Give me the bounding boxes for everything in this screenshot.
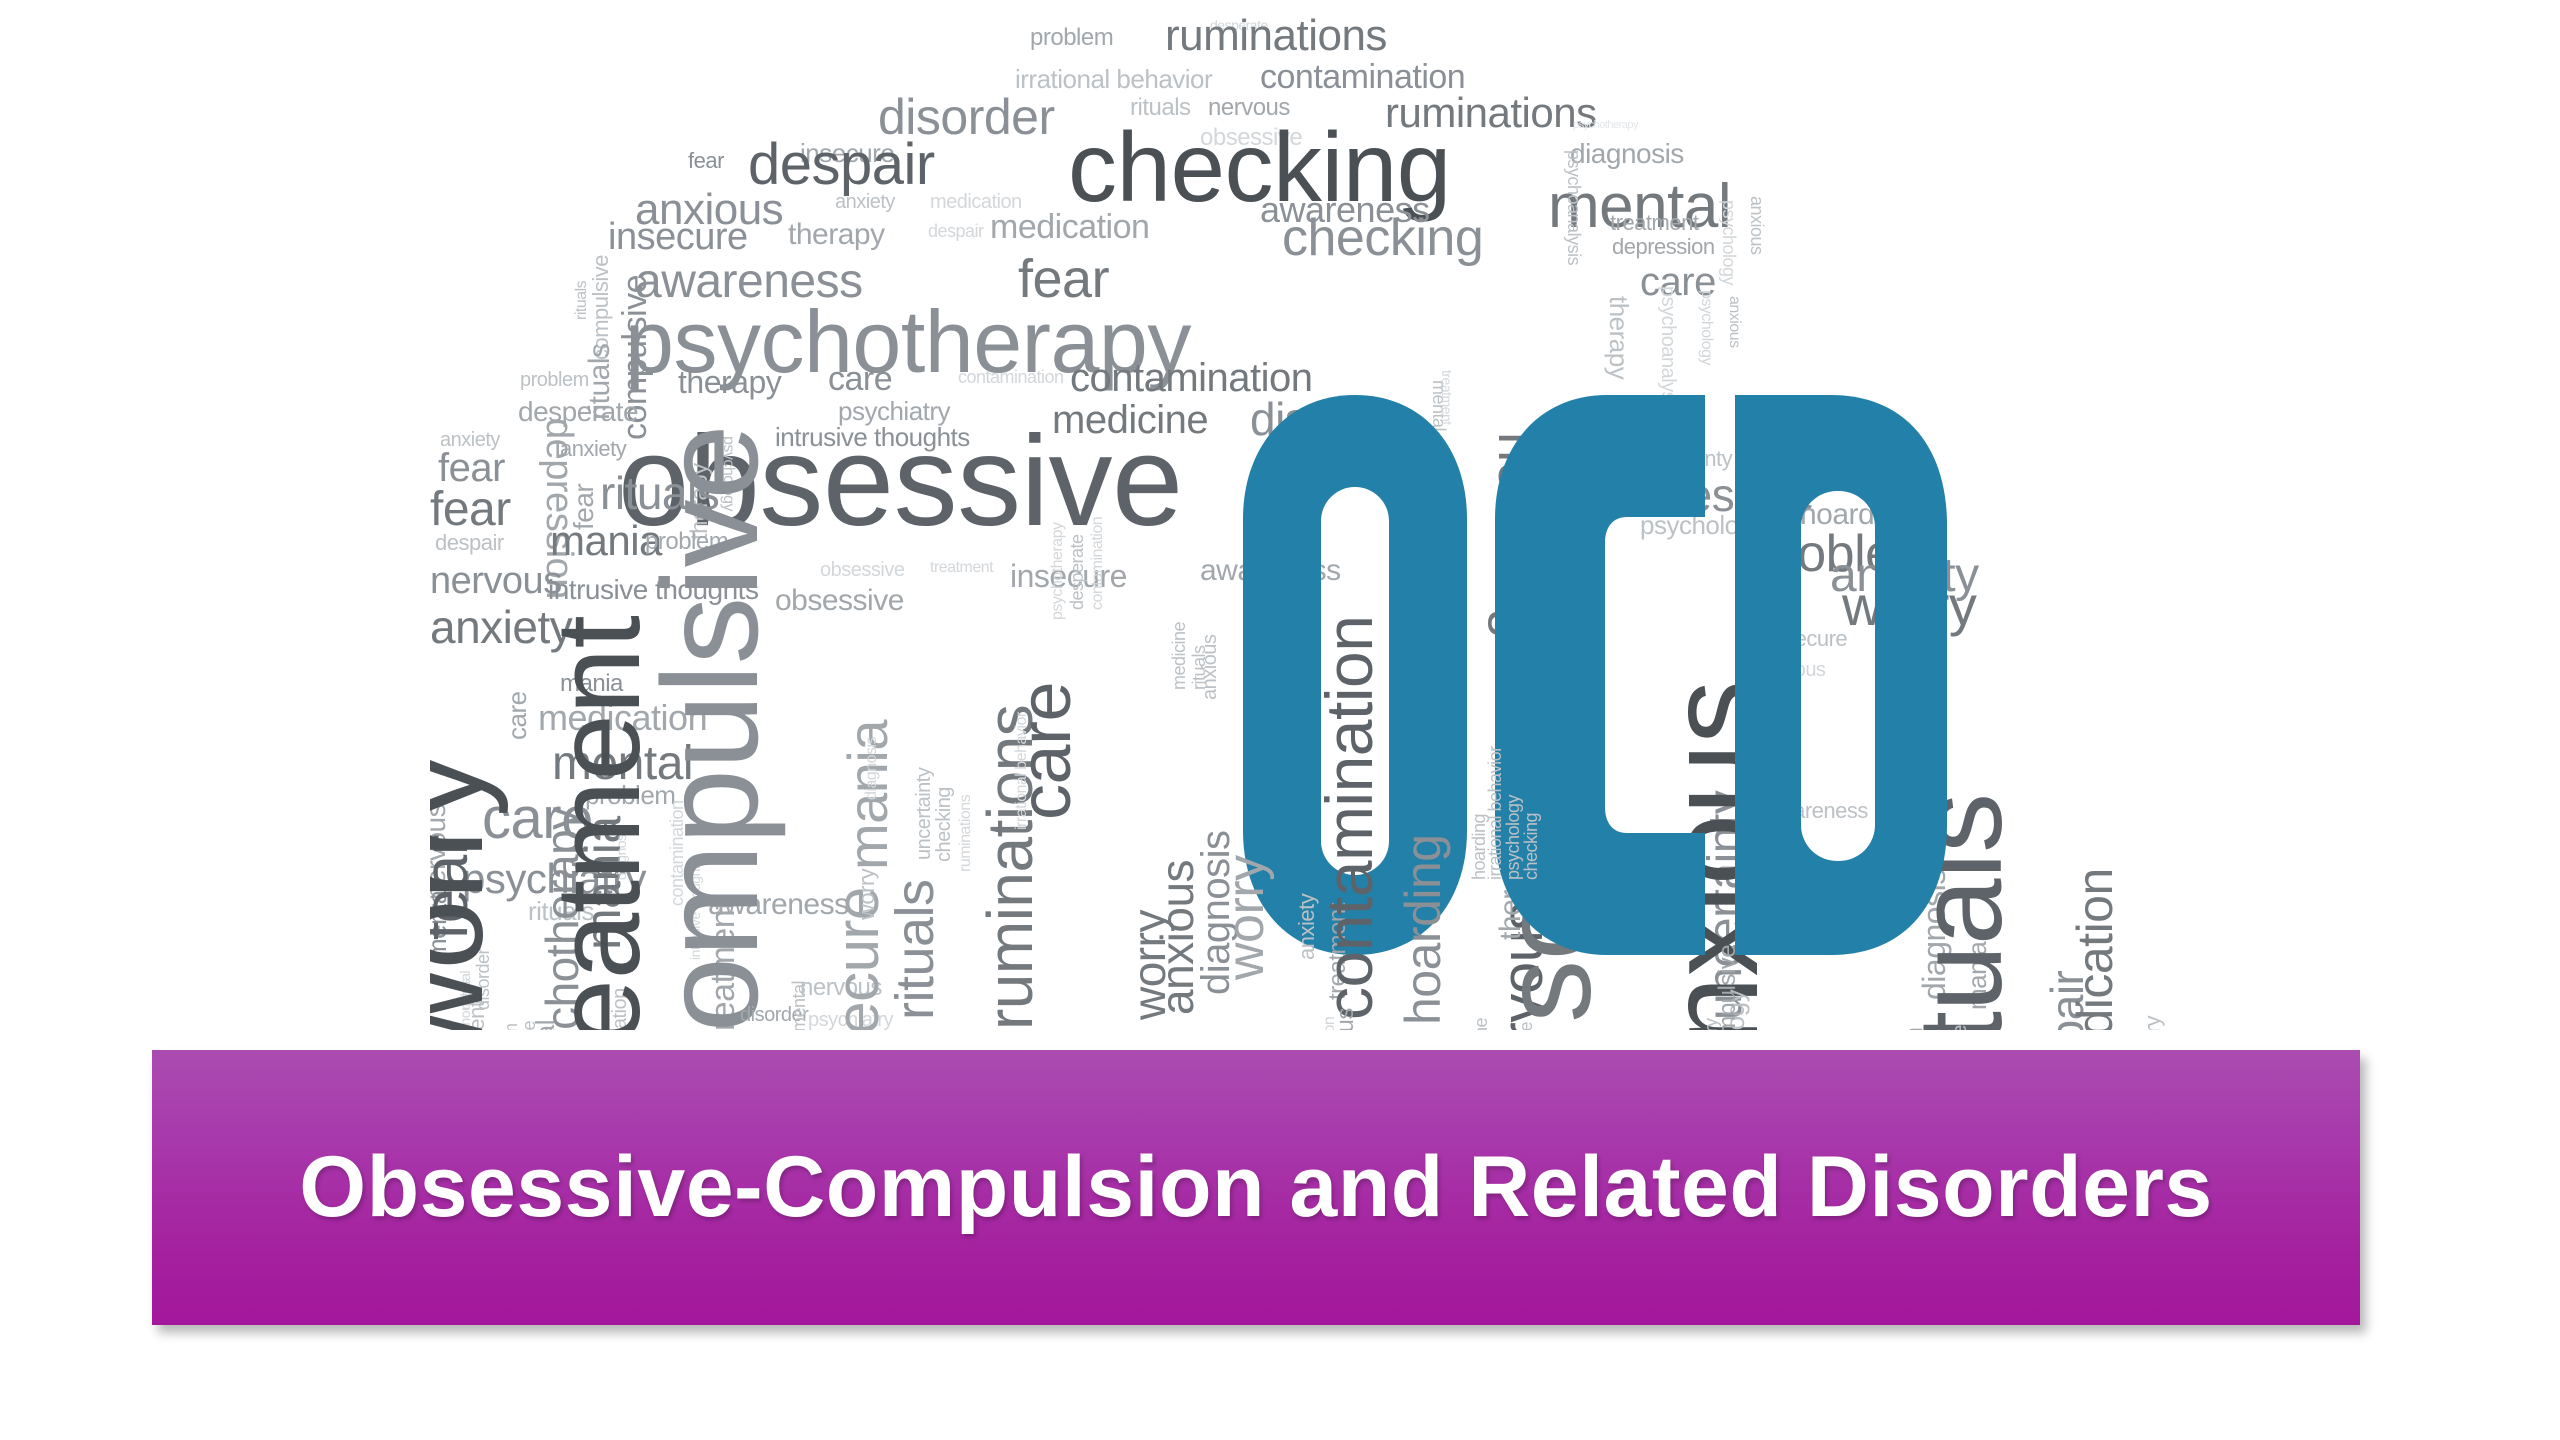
cloud-word: awareness bbox=[1766, 800, 1868, 822]
cloud-word: checking bbox=[1522, 813, 1540, 880]
cloud-word: fear bbox=[438, 448, 505, 488]
cloud-word: insecure bbox=[2164, 1011, 2170, 1030]
cloud-word: worry bbox=[1702, 1019, 1720, 1031]
cloud-word: depression bbox=[1612, 236, 1715, 258]
word-cloud-image: desperate problem ruminations irrational… bbox=[430, 0, 2170, 1030]
title-banner: Obsessive-Compulsion and Related Disorde… bbox=[152, 1050, 2360, 1325]
cloud-word: anxious bbox=[1770, 910, 1829, 928]
cloud-word: hoarding bbox=[1398, 834, 1448, 1025]
cloud-word: ruminations bbox=[958, 795, 974, 872]
cloud-word: desperate bbox=[1068, 534, 1086, 610]
cloud-word: problem bbox=[1030, 26, 1113, 50]
cloud-word: medicine bbox=[1170, 622, 1188, 690]
cloud-word: care bbox=[828, 362, 892, 396]
cloud-word: problem bbox=[502, 1023, 520, 1030]
cloud-word: irrational behavior bbox=[1486, 746, 1504, 880]
cloud-word: care bbox=[504, 691, 530, 740]
cloud-word: uncertainty bbox=[914, 768, 934, 860]
cloud-word: therapy bbox=[788, 220, 885, 250]
page-title: Obsessive-Compulsion and Related Disorde… bbox=[299, 1138, 2213, 1237]
cloud-word: anxious bbox=[1748, 196, 1766, 255]
cloud-word: diagnosis bbox=[864, 737, 880, 800]
cloud-word: insecure bbox=[1768, 628, 1847, 650]
cloud-word: anxious bbox=[1760, 660, 1825, 680]
cloud-word: rituals bbox=[888, 879, 942, 1020]
cloud-word: contamination bbox=[1070, 358, 1313, 398]
cloud-word: irrational behavior bbox=[1014, 712, 1030, 830]
cloud-word: therapy bbox=[678, 366, 781, 398]
cloud-word: rituals bbox=[574, 281, 590, 320]
cloud-word: contamination bbox=[958, 368, 1064, 386]
cloud-word: insecure bbox=[608, 218, 748, 256]
cloud-word: psychology bbox=[1720, 200, 1738, 285]
cloud-word: medicine bbox=[1472, 1018, 1490, 1030]
cloud-word: psychoanalysis bbox=[1565, 150, 1583, 265]
cloud-word: desperate bbox=[1556, 470, 1586, 599]
cloud-word: medication bbox=[990, 210, 1149, 244]
cloud-word: worry bbox=[1780, 448, 1826, 468]
cloud-word: worry bbox=[856, 869, 878, 920]
cloud-word: psychotherapy bbox=[1573, 120, 1638, 131]
cloud-word: contamination bbox=[1316, 616, 1382, 1020]
cloud-word: worry bbox=[1842, 578, 1976, 634]
cloud-silhouette-mask: desperate problem ruminations irrational… bbox=[430, 0, 2170, 1030]
cloud-word: anxious bbox=[1432, 500, 1466, 614]
cloud-word: anxiety bbox=[560, 438, 626, 460]
cloud-word: despair bbox=[435, 532, 504, 554]
cloud-word: disorder bbox=[1250, 396, 1412, 442]
cloud-word: despair bbox=[928, 222, 984, 240]
cloud-word: therapy bbox=[1606, 296, 1632, 379]
word-cloud-words: desperate problem ruminations irrational… bbox=[430, 0, 2170, 1030]
cloud-word: checking bbox=[934, 787, 954, 862]
cloud-word: ruminations bbox=[1165, 14, 1387, 58]
cloud-word: worry bbox=[1220, 855, 1272, 980]
cloud-word: awareness bbox=[1200, 556, 1341, 586]
cloud-word: psychology bbox=[1504, 795, 1522, 880]
cloud-word: anxious bbox=[1726, 296, 1742, 348]
cloud-word: obsessive bbox=[820, 560, 904, 580]
cloud-word: uncertainty bbox=[1630, 448, 1732, 470]
cloud-word: psychology bbox=[1698, 290, 1714, 365]
cloud-word: psychotherapy bbox=[1050, 522, 1066, 620]
cloud-word: hoarding bbox=[1490, 432, 1544, 638]
cloud-word: treatment bbox=[1610, 212, 1698, 234]
cloud-word: contamination bbox=[1090, 517, 1106, 610]
cloud-word: diagnosis bbox=[1570, 140, 1684, 168]
cloud-word: fear bbox=[688, 150, 724, 172]
cloud-word: rituals bbox=[1900, 793, 2020, 1030]
cloud-word: psychiatry bbox=[2142, 1016, 2164, 1030]
cloud-word: medicine bbox=[1517, 1022, 1535, 1030]
cloud-word: psychology bbox=[1640, 512, 1765, 538]
slide-canvas: desperate problem ruminations irrational… bbox=[0, 0, 2560, 1440]
cloud-word: mental bbox=[790, 981, 808, 1030]
cloud-word: compulsive bbox=[1950, 1025, 1970, 1030]
cloud-word: worry bbox=[430, 755, 502, 1031]
cloud-word: nervous bbox=[430, 562, 562, 600]
cloud-word: fear bbox=[430, 486, 511, 534]
cloud-word: medication bbox=[2070, 868, 2120, 1030]
cloud-word: treatment bbox=[1440, 370, 1454, 425]
cloud-word: obsessive bbox=[775, 586, 904, 616]
cloud-word: compulsive bbox=[642, 425, 778, 1030]
cloud-word: psychoanalysis bbox=[1658, 286, 1678, 415]
cloud-word: anxious bbox=[1200, 635, 1220, 700]
cloud-word: depression bbox=[1322, 1017, 1338, 1030]
cloud-word: anxiety bbox=[835, 192, 895, 212]
cloud-word: checking bbox=[1282, 212, 1483, 264]
cloud-word: problem bbox=[520, 370, 589, 390]
cloud-word: treatment bbox=[930, 560, 993, 576]
cloud-word: problem bbox=[1900, 1028, 1926, 1030]
